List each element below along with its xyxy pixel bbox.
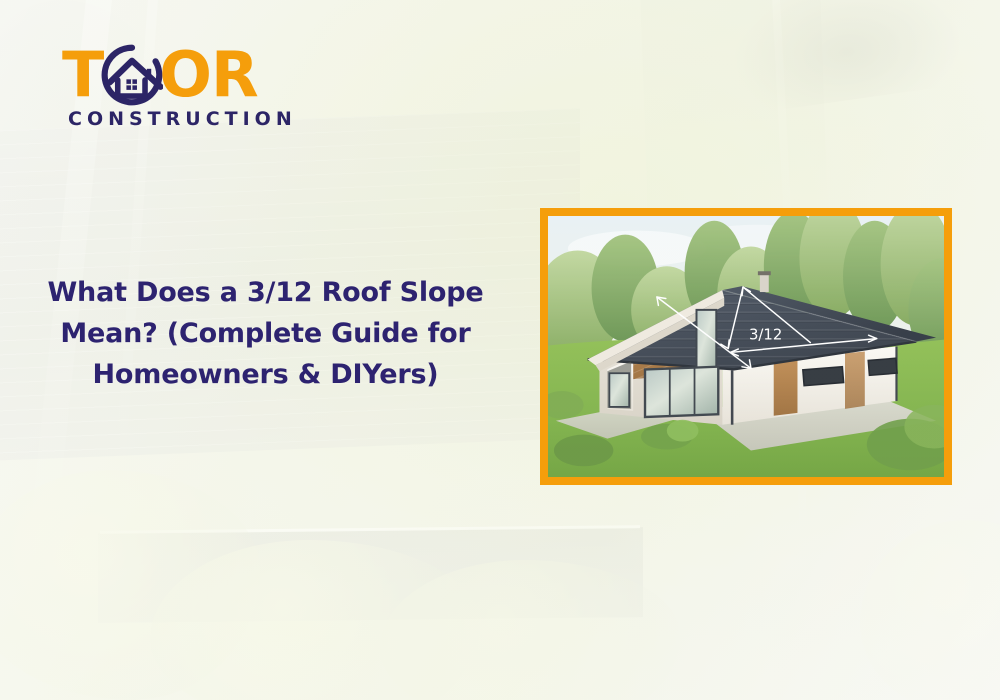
blog-banner: T O R bbox=[0, 0, 1000, 700]
logo[interactable]: T O R bbox=[62, 44, 270, 130]
illustration-image: 3/12 bbox=[548, 216, 944, 477]
logo-letter-t: T bbox=[62, 44, 103, 106]
logo-tagline: CONSTRUCTION bbox=[62, 108, 270, 130]
logo-wordmark: T O R bbox=[62, 44, 270, 106]
logo-letter-r: R bbox=[211, 44, 258, 106]
page-title: What Does a 3/12 Roof Slope Mean? (Compl… bbox=[38, 272, 493, 395]
house-roof-in-circle-icon bbox=[101, 44, 163, 106]
illustration-frame: 3/12 bbox=[540, 208, 952, 485]
logo-letters-or: O R bbox=[159, 44, 257, 106]
logo-letter-o: O bbox=[159, 44, 211, 106]
